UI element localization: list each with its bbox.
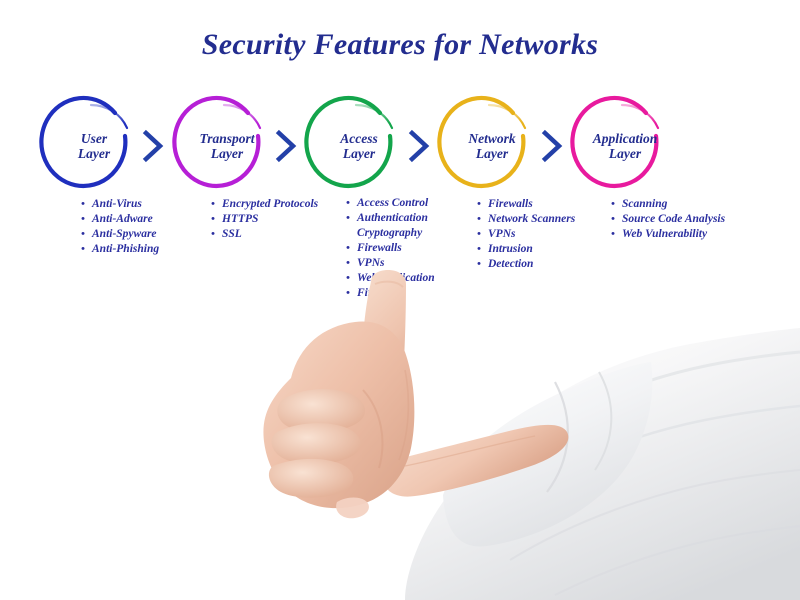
layer-node-access-layer[interactable]: AccessLayer (310, 100, 408, 192)
feature-item: Cryptography (345, 226, 435, 241)
layer-ring-tail (489, 105, 525, 128)
feature-item: Firewalls (476, 197, 575, 212)
feature-item: Anti-Virus (80, 197, 159, 212)
page-title: Security Features for Networks (0, 28, 800, 62)
layer-ring-tail (91, 105, 127, 128)
feature-list-application-layer: ScanningSource Code AnalysisWeb Vulnerab… (610, 197, 725, 242)
chevron-right-icon (539, 128, 565, 164)
feature-list-network-layer: FirewallsNetwork ScannersVPNsIntrusionDe… (476, 197, 575, 272)
feature-list-user-layer: Anti-VirusAnti-AdwareAnti-SpywareAnti-Ph… (80, 197, 159, 257)
chevron-right-icon (406, 128, 432, 164)
layer-ring-tail (622, 105, 658, 128)
feature-item: Anti-Spyware (80, 227, 159, 242)
feature-item: Anti-Adware (80, 212, 159, 227)
feature-item: Scanning (610, 197, 725, 212)
feature-item: Network Scanners (476, 212, 575, 227)
layer-node-network-layer[interactable]: NetworkLayer (443, 100, 541, 192)
chevron-right-icon (273, 128, 299, 164)
feature-item: Encrypted Protocols (210, 197, 318, 212)
layer-node-transport-layer[interactable]: TransportLayer (178, 100, 276, 192)
layer-ring-tail (224, 105, 260, 128)
feature-item: Web Vulnerability (610, 227, 725, 242)
feature-item: Source Code Analysis (610, 212, 725, 227)
feature-item: HTTPS (210, 212, 318, 227)
layer-ring-tail (356, 105, 392, 128)
pointing-hand-photo (255, 270, 800, 600)
feature-item: Access Control (345, 196, 435, 211)
feature-item: VPNs (476, 227, 575, 242)
layer-node-application-layer[interactable]: ApplicationLayer (576, 100, 674, 192)
diagram-canvas: Security Features for Networks UserLayer… (0, 0, 800, 600)
feature-item: SSL (210, 227, 318, 242)
feature-item: Intrusion (476, 242, 575, 257)
feature-list-transport-layer: Encrypted ProtocolsHTTPSSSL (210, 197, 318, 242)
layer-chain: UserLayerTransportLayerAccessLayerNetwor… (0, 100, 800, 195)
layer-node-user-layer[interactable]: UserLayer (45, 100, 143, 192)
feature-item: Authentication (345, 211, 435, 226)
feature-item: VPNs (345, 256, 435, 271)
feature-item: Anti-Phishing (80, 242, 159, 257)
feature-item: Firewalls (345, 241, 435, 256)
chevron-right-icon (140, 128, 166, 164)
